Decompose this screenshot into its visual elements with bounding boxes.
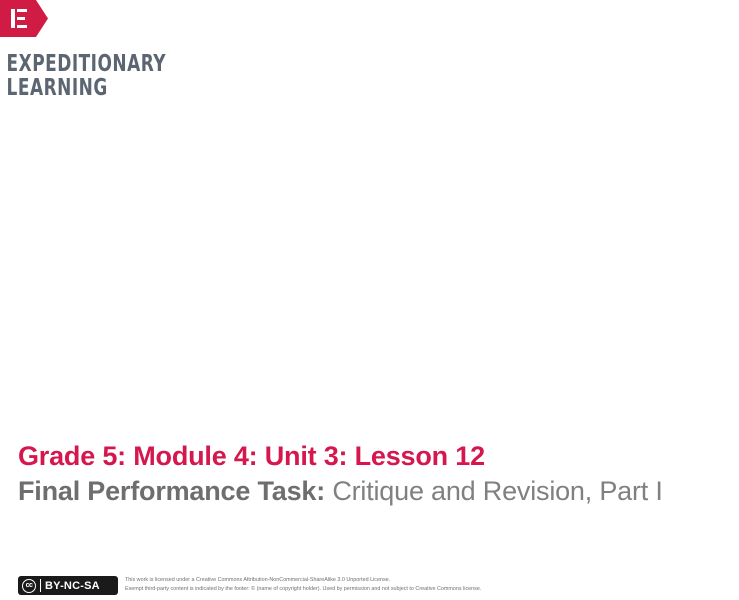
task-detail: Critique and Revision, Part I — [325, 476, 663, 506]
wordmark-line-1: EXPEDITIONARY — [7, 52, 246, 76]
lesson-heading: Grade 5: Module 4: Unit 3: Lesson 12 — [18, 440, 739, 473]
logo-letter-bar-middle — [17, 17, 25, 20]
task-heading: Final Performance Task: Critique and Rev… — [18, 475, 739, 508]
logo-letter-stem — [11, 9, 15, 28]
task-label: Final Performance Task: — [18, 476, 325, 506]
expeditionary-learning-logo-icon — [0, 0, 48, 37]
wordmark-line-2: LEARNING — [7, 76, 246, 100]
license-legal-line-1: This work is licensed under a Creative C… — [125, 576, 481, 585]
brand-wordmark: EXPEDITIONARY LEARNING — [0, 52, 246, 100]
logo-letter-bar-top — [17, 9, 27, 12]
license-legal-text: This work is licensed under a Creative C… — [125, 574, 481, 593]
license-footer: cc BY-NC-SA This work is licensed under … — [18, 574, 481, 595]
brand-block: EXPEDITIONARY LEARNING — [0, 0, 300, 100]
license-code-label: BY-NC-SA — [45, 580, 100, 592]
badge-divider — [40, 579, 41, 592]
page-title: Grade 5: Module 4: Unit 3: Lesson 12 Fin… — [18, 440, 739, 508]
logo-letter-bar-bottom — [17, 25, 27, 28]
creative-commons-badge[interactable]: cc BY-NC-SA — [18, 576, 118, 595]
creative-commons-icon: cc — [22, 579, 36, 593]
license-legal-line-2: Exempt third-party content is indicated … — [125, 585, 481, 594]
